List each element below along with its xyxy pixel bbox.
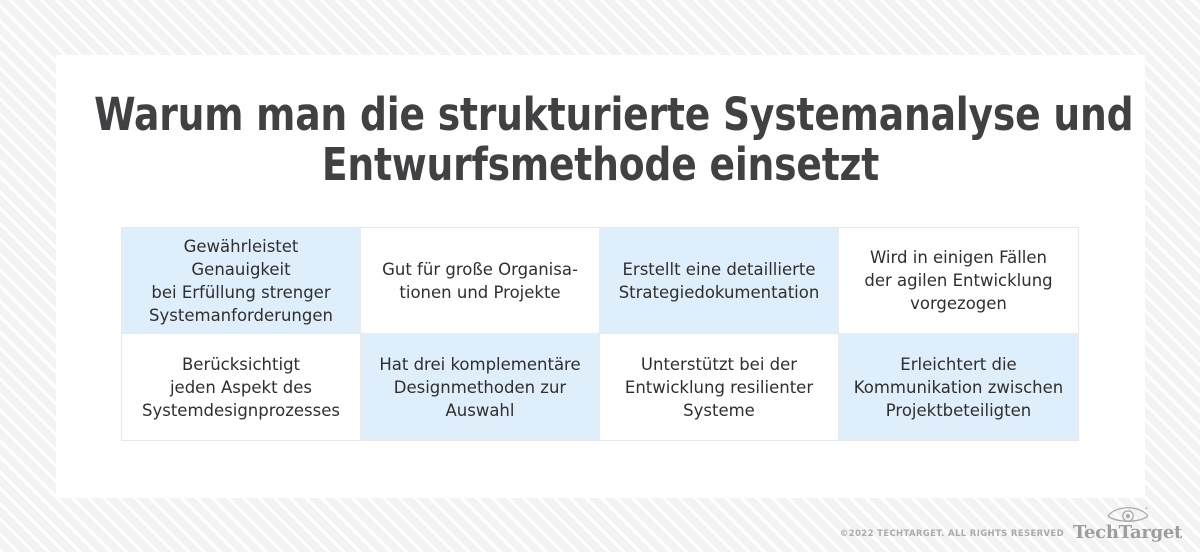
grid-cell-2: Gut für große Organisa-tionen und Projek… [361, 228, 600, 334]
eye-icon [1106, 504, 1150, 523]
grid-cell-2-text: Gut für große Organisa-tionen und Projek… [382, 258, 578, 304]
grid-cell-7: Unterstützt bei derEntwicklung resilient… [600, 334, 839, 440]
grid-cell-3-text: Erstellt eine detaillierteStrategiedokum… [619, 258, 820, 304]
grid-cell-5: Berücksichtigtjeden Aspekt desSystemdesi… [122, 334, 361, 440]
grid-cell-3: Erstellt eine detaillierteStrategiedokum… [600, 228, 839, 334]
grid-cell-6-text: Hat drei komplementäreDesignmethoden zur… [379, 353, 580, 422]
content-card: Warum man die strukturierte Systemanalys… [56, 55, 1145, 498]
grid-cell-4-text: Wird in einigen Fällender agilen Entwick… [864, 246, 1052, 315]
grid-cell-1-text: Gewährleistet Genauigkeitbei Erfüllung s… [136, 235, 346, 327]
slide-canvas: Warum man die strukturierte Systemanalys… [0, 0, 1200, 552]
page-title-line-1: Warum man die strukturierte Systemanalys… [94, 90, 1107, 140]
page-title: Warum man die strukturierte Systemanalys… [94, 90, 1107, 190]
grid-cell-6: Hat drei komplementäreDesignmethoden zur… [361, 334, 600, 440]
footer: ©2022 TECHTARGET. ALL RIGHTS RESERVED Te… [840, 504, 1182, 542]
grid-cell-1: Gewährleistet Genauigkeitbei Erfüllung s… [122, 228, 361, 334]
page-title-line-2: Entwurfsmethode einsetzt [94, 140, 1107, 190]
grid-cell-4: Wird in einigen Fällender agilen Entwick… [839, 228, 1078, 334]
grid-cell-8-text: Erleichtert dieKommunikation zwischenPro… [854, 353, 1063, 422]
grid-cell-7-text: Unterstützt bei derEntwicklung resilient… [625, 353, 813, 422]
benefits-grid: Gewährleistet Genauigkeitbei Erfüllung s… [121, 227, 1079, 441]
copyright-text: ©2022 TECHTARGET. ALL RIGHTS RESERVED [840, 529, 1064, 542]
grid-cell-5-text: Berücksichtigtjeden Aspekt desSystemdesi… [142, 353, 340, 422]
grid-cell-8: Erleichtert dieKommunikation zwischenPro… [839, 334, 1078, 440]
techtarget-wordmark: TechTarget [1073, 524, 1182, 542]
techtarget-logo: TechTarget [1073, 504, 1182, 542]
